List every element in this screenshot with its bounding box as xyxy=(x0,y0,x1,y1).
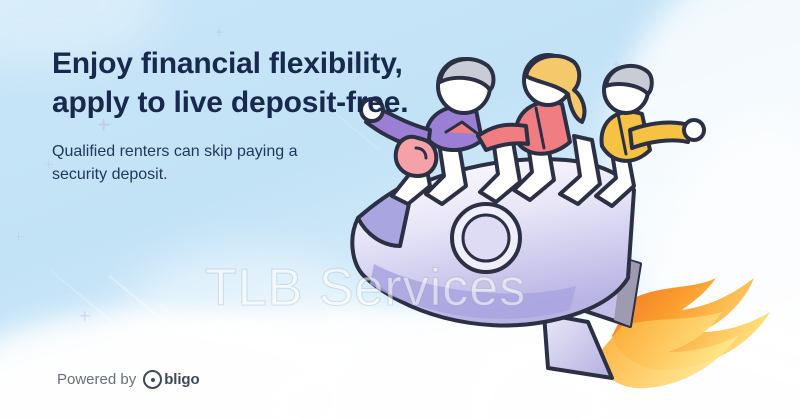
speed-streak xyxy=(109,274,226,373)
promo-banner: Enjoy financial flexibility, apply to li… xyxy=(0,0,800,419)
obligo-wordmark: bligo xyxy=(164,371,199,388)
rocket-lower-fin xyxy=(544,314,612,378)
banner-subtitle: Qualified renters can skip paying a secu… xyxy=(52,140,452,186)
sparkle-icon xyxy=(79,310,90,321)
sparkle-icon xyxy=(215,28,223,36)
cloud-bottom-left xyxy=(0,309,360,419)
page-title: Enjoy financial flexibility, apply to li… xyxy=(52,44,452,122)
speed-streak xyxy=(50,270,124,333)
obligo-logo[interactable]: bligo xyxy=(143,370,199,389)
rider-three xyxy=(602,66,704,161)
rider-two xyxy=(478,55,584,154)
obligo-circle-dot-icon xyxy=(143,370,162,389)
speed-streak xyxy=(160,303,246,376)
powered-by-footer: Powered by bligo xyxy=(57,370,200,389)
banner-copy: Enjoy financial flexibility, apply to li… xyxy=(52,44,452,186)
powered-by-label: Powered by xyxy=(57,371,136,388)
sparkle-icon xyxy=(14,232,23,241)
